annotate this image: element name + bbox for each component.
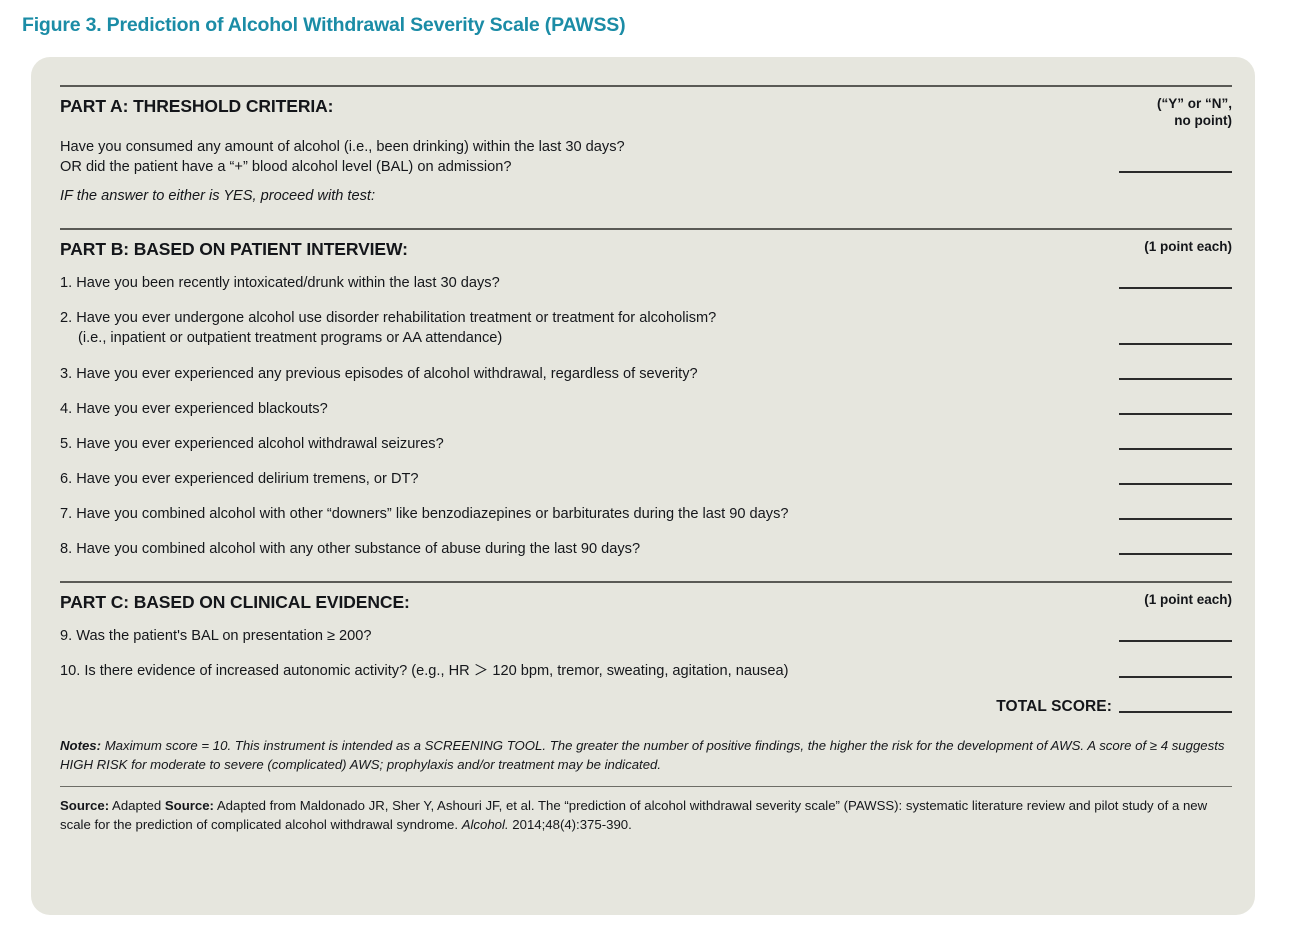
question-row-6: 6. Have you ever experienced delirium tr…	[60, 462, 1232, 489]
source-journal: Alcohol.	[462, 817, 509, 832]
question-row-4: 4. Have you ever experienced blackouts?	[60, 392, 1232, 419]
answer-line-9[interactable]	[1119, 640, 1232, 642]
total-score-label: TOTAL SCORE:	[996, 698, 1119, 718]
part-c-heading: PART C: BASED ON CLINICAL EVIDENCE:	[60, 583, 410, 613]
question-main-2: 2. Have you ever undergone alcohol use d…	[60, 310, 716, 326]
notes-block: Notes: Maximum score = 10. This instrume…	[60, 718, 1232, 786]
part-a-instruction: IF the answer to either is YES, proceed …	[60, 179, 1060, 206]
question-main-4: 4. Have you ever experienced blackouts?	[60, 401, 328, 417]
question-text-4: 4. Have you ever experienced blackouts?	[60, 392, 328, 419]
source-label-1: Source:	[60, 798, 109, 813]
part-b-header: PART B: BASED ON PATIENT INTERVIEW: (1 p…	[60, 230, 1232, 260]
part-c-header: PART C: BASED ON CLINICAL EVIDENCE: (1 p…	[60, 583, 1232, 613]
question-main-8: 8. Have you combined alcohol with any ot…	[60, 541, 640, 557]
question-row-3: 3. Have you ever experienced any previou…	[60, 357, 1232, 384]
part-a-points-note: (“Y” or “N”, no point)	[1157, 87, 1232, 130]
part-a-threshold-row: Have you consumed any amount of alcohol …	[60, 130, 1232, 179]
source-mid: Adapted	[109, 798, 165, 813]
part-a-header: PART A: THRESHOLD CRITERIA: (“Y” or “N”,…	[60, 87, 1232, 130]
question-row-1: 1. Have you been recently intoxicated/dr…	[60, 266, 1232, 293]
question-main-6: 6. Have you ever experienced delirium tr…	[60, 471, 419, 487]
notes-text: Maximum score = 10. This instrument is i…	[60, 738, 1224, 773]
question-row-7: 7. Have you combined alcohol with other …	[60, 497, 1232, 524]
question-text-9: 9. Was the patient's BAL on presentation…	[60, 619, 372, 646]
question-text-2: 2. Have you ever undergone alcohol use d…	[60, 301, 716, 348]
question-row-2: 2. Have you ever undergone alcohol use d…	[60, 301, 1232, 348]
answer-line-2[interactable]	[1119, 343, 1232, 345]
question-text-3: 3. Have you ever experienced any previou…	[60, 357, 698, 384]
answer-line-5[interactable]	[1119, 448, 1232, 450]
pawss-form-card: PART A: THRESHOLD CRITERIA: (“Y” or “N”,…	[31, 57, 1255, 915]
answer-line-8[interactable]	[1119, 553, 1232, 555]
question-row-10: 10. Is there evidence of increased auton…	[60, 654, 1232, 681]
answer-line-10[interactable]	[1119, 676, 1232, 678]
question-sub-2: (i.e., inpatient or outpatient treatment…	[60, 328, 716, 348]
question-text-1: 1. Have you been recently intoxicated/dr…	[60, 266, 500, 293]
question-main-7: 7. Have you combined alcohol with other …	[60, 506, 788, 522]
question-text-5: 5. Have you ever experienced alcohol wit…	[60, 427, 444, 454]
answer-line-4[interactable]	[1119, 413, 1232, 415]
source-label-2: Source:	[165, 798, 214, 813]
part-c-points-note: (1 point each)	[1144, 583, 1232, 609]
total-score-row: TOTAL SCORE:	[60, 682, 1232, 718]
part-a-heading: PART A: THRESHOLD CRITERIA:	[60, 87, 333, 117]
notes-label: Notes:	[60, 738, 101, 753]
question-row-5: 5. Have you ever experienced alcohol wit…	[60, 427, 1232, 454]
source-text: Adapted from Maldonado JR, Sher Y, Ashou…	[60, 798, 1207, 833]
part-a-question-line1: Have you consumed any amount of alcohol …	[60, 139, 625, 155]
answer-line-1[interactable]	[1119, 287, 1232, 289]
question-text-7: 7. Have you combined alcohol with other …	[60, 497, 788, 524]
page-title: Figure 3. Prediction of Alcohol Withdraw…	[22, 14, 625, 37]
answer-line-total[interactable]	[1119, 711, 1232, 713]
question-text-8: 8. Have you combined alcohol with any ot…	[60, 532, 640, 559]
question-main-1: 1. Have you been recently intoxicated/dr…	[60, 275, 500, 291]
source-citation: 2014;48(4):375-390.	[509, 817, 632, 832]
question-text-6: 6. Have you ever experienced delirium tr…	[60, 462, 419, 489]
answer-line-6[interactable]	[1119, 483, 1232, 485]
answer-line-3[interactable]	[1119, 378, 1232, 380]
part-b-points-note: (1 point each)	[1144, 230, 1232, 256]
part-b-heading: PART B: BASED ON PATIENT INTERVIEW:	[60, 230, 408, 260]
question-main-3: 3. Have you ever experienced any previou…	[60, 366, 698, 382]
question-main-9: 9. Was the patient's BAL on presentation…	[60, 628, 372, 644]
question-main-10: 10. Is there evidence of increased auton…	[60, 663, 788, 679]
question-row-9: 9. Was the patient's BAL on presentation…	[60, 619, 1232, 646]
part-a-question-line2: OR did the patient have a “+” blood alco…	[60, 159, 511, 175]
answer-line-part-a[interactable]	[1119, 171, 1232, 173]
question-text-10: 10. Is there evidence of increased auton…	[60, 654, 788, 681]
form-content: PART A: THRESHOLD CRITERIA: (“Y” or “N”,…	[60, 85, 1232, 835]
source-block: Source: Adapted Source: Adapted from Mal…	[60, 787, 1232, 836]
question-row-8: 8. Have you combined alcohol with any ot…	[60, 532, 1232, 559]
answer-line-7[interactable]	[1119, 518, 1232, 520]
part-a-question: Have you consumed any amount of alcohol …	[60, 130, 625, 177]
question-main-5: 5. Have you ever experienced alcohol wit…	[60, 436, 444, 452]
